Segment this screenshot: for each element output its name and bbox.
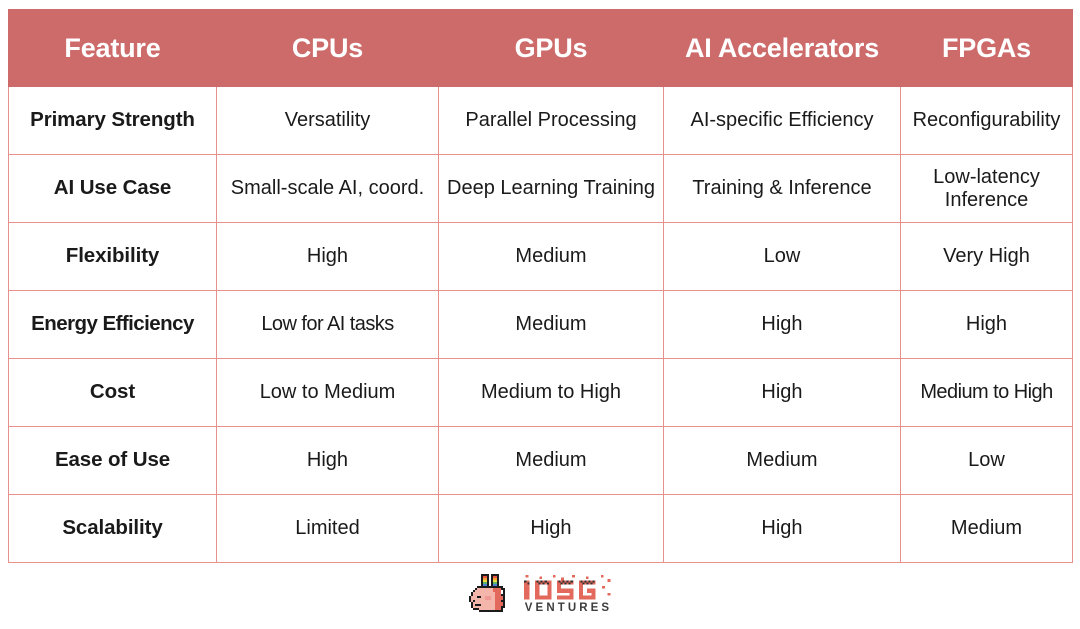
cell-scalability-ai: High [664,495,901,563]
row-label-ease-of-use: Ease of Use [9,427,217,495]
table-row: Flexibility High Medium Low Very High [9,223,1073,291]
cell-flexibility-fpgas: Very High [901,223,1073,291]
cell-ease-of-use-ai: Medium [664,427,901,495]
hardware-comparison-table: Feature CPUs GPUs AI Accelerators FPGAs … [8,9,1073,563]
row-label-ai-use-case: AI Use Case [9,155,217,223]
cell-ai-use-case-gpus: Deep Learning Training [439,155,664,223]
cell-primary-strength-cpus: Versatility [217,87,439,155]
cell-energy-efficiency-fpgas: High [901,291,1073,359]
brand-tagline: VENTURES [525,603,612,615]
column-header-cpus: CPUs [217,10,439,87]
comparison-table-container: Feature CPUs GPUs AI Accelerators FPGAs … [8,9,1072,563]
llama-head-icon [467,574,513,616]
cell-primary-strength-fpgas: Reconfigurability [901,87,1073,155]
column-header-fpgas: FPGAs [901,10,1073,87]
table-row: Ease of Use High Medium Medium Low [9,427,1073,495]
cell-ai-use-case-ai: Training & Inference [664,155,901,223]
table-row: Energy Efficiency Low for AI tasks Mediu… [9,291,1073,359]
cell-cost-ai: High [664,359,901,427]
column-header-gpus: GPUs [439,10,664,87]
cell-ai-use-case-cpus: Small-scale AI, coord. [217,155,439,223]
cell-scalability-gpus: High [439,495,664,563]
brand-logo: VENTURES [0,570,1080,620]
column-header-ai-accelerators: AI Accelerators [664,10,901,87]
cell-ease-of-use-fpgas: Low [901,427,1073,495]
cell-flexibility-gpus: Medium [439,223,664,291]
table-header-row: Feature CPUs GPUs AI Accelerators FPGAs [9,10,1073,87]
brand-wordmark: VENTURES [522,575,614,615]
cell-flexibility-ai: Low [664,223,901,291]
row-label-scalability: Scalability [9,495,217,563]
column-header-feature: Feature [9,10,217,87]
table-row: Primary Strength Versatility Parallel Pr… [9,87,1073,155]
cell-cost-fpgas: Medium to High [901,359,1073,427]
iosg-wordmark-icon [522,575,614,601]
cell-ease-of-use-gpus: Medium [439,427,664,495]
cell-cost-gpus: Medium to High [439,359,664,427]
table-row: AI Use Case Small-scale AI, coord. Deep … [9,155,1073,223]
table-row: Scalability Limited High High Medium [9,495,1073,563]
row-label-energy-efficiency: Energy Efficiency [9,291,217,359]
row-label-flexibility: Flexibility [9,223,217,291]
cell-ai-use-case-fpgas: Low-latency Inference [901,155,1073,223]
table-header: Feature CPUs GPUs AI Accelerators FPGAs [9,10,1073,87]
table-body: Primary Strength Versatility Parallel Pr… [9,87,1073,563]
cell-energy-efficiency-gpus: Medium [439,291,664,359]
table-row: Cost Low to Medium Medium to High High M… [9,359,1073,427]
row-label-cost: Cost [9,359,217,427]
row-label-primary-strength: Primary Strength [9,87,217,155]
cell-energy-efficiency-ai: High [664,291,901,359]
cell-ease-of-use-cpus: High [217,427,439,495]
cell-cost-cpus: Low to Medium [217,359,439,427]
cell-primary-strength-ai: AI-specific Efficiency [664,87,901,155]
cell-scalability-cpus: Limited [217,495,439,563]
cell-flexibility-cpus: High [217,223,439,291]
cell-primary-strength-gpus: Parallel Processing [439,87,664,155]
cell-scalability-fpgas: Medium [901,495,1073,563]
comparison-table-page: Feature CPUs GPUs AI Accelerators FPGAs … [0,0,1080,629]
cell-energy-efficiency-cpus: Low for AI tasks [217,291,439,359]
